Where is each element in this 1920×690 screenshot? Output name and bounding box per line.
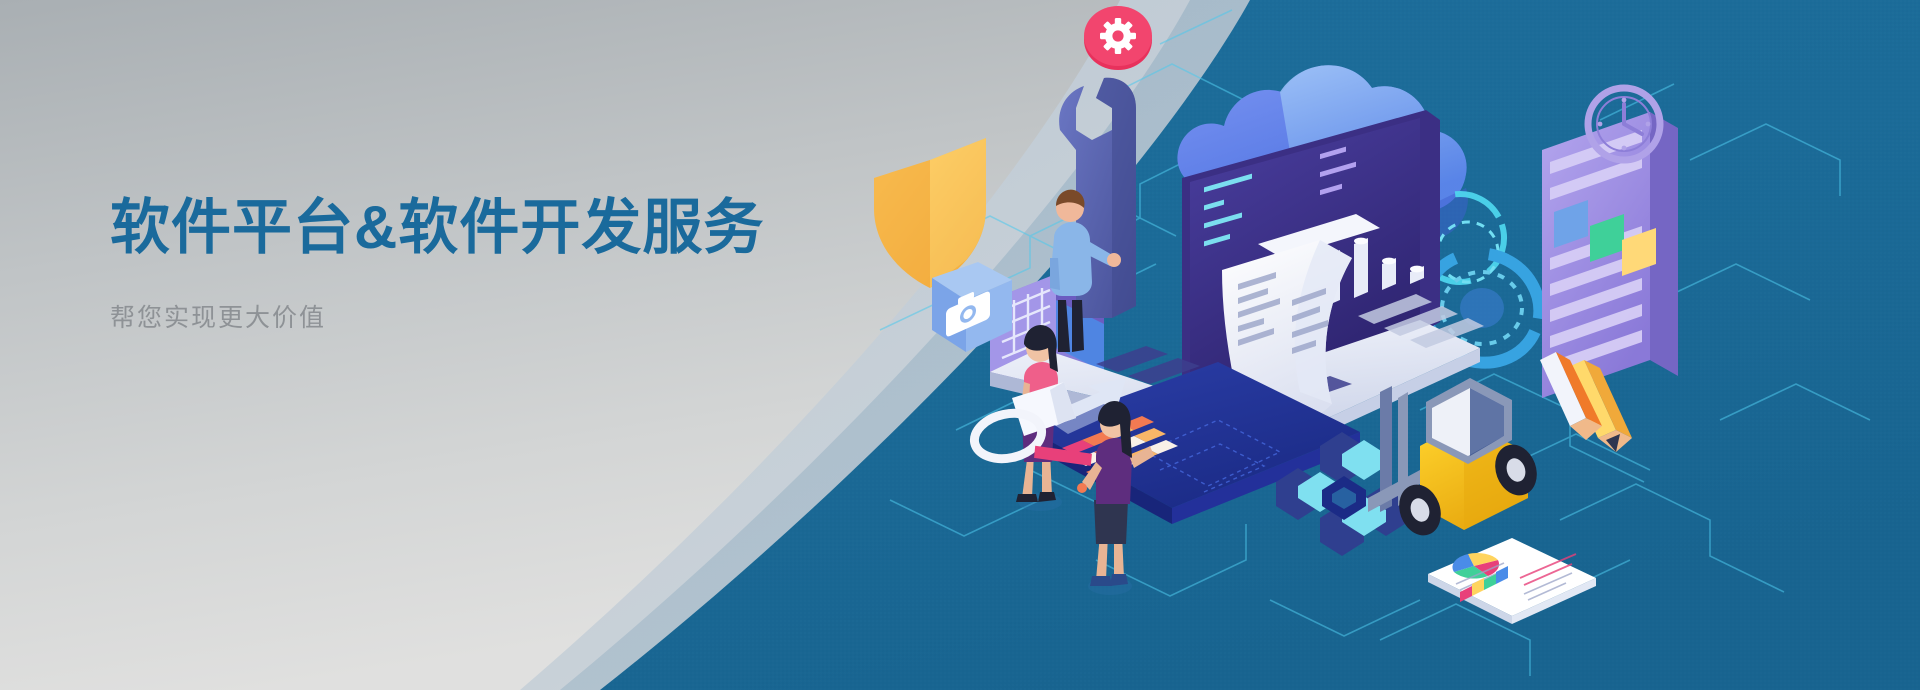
hero-banner: 软件平台&软件开发服务 帮您实现更大价值 (0, 0, 1920, 690)
settings-gear-badge (1084, 6, 1152, 70)
isometric-illustration: NEWS (860, 0, 1920, 690)
clock-icon (1588, 88, 1660, 160)
